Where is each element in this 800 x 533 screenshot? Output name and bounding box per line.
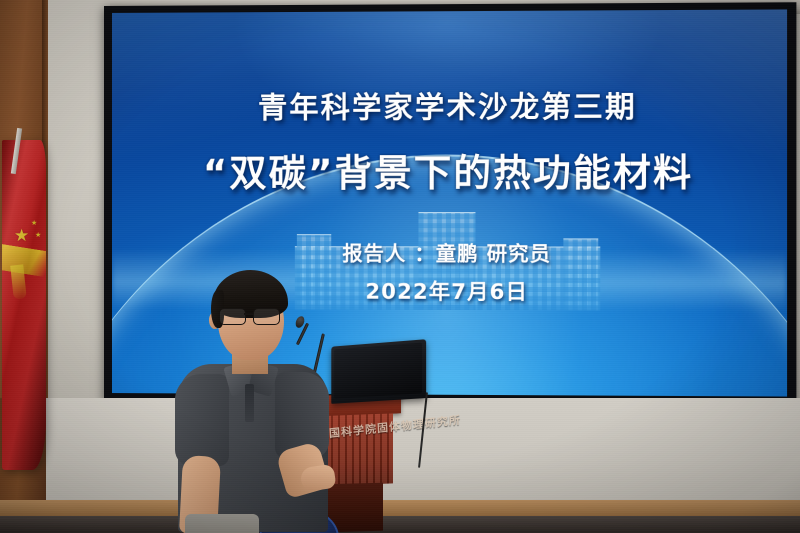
building-windows [418,213,475,310]
presenter-glasses [219,308,285,323]
flag-fold-shading [2,140,46,470]
presenter-left-sleeve [175,374,229,466]
lecture-photo: 青年科学家学术沙龙第三期 “双碳”背景下的热功能材料 报告人 ：童鹏 研究员 2… [0,0,800,533]
glasses-left-lens [219,308,246,325]
left-wall-segment [48,0,110,430]
glasses-bridge [244,313,253,315]
floor [0,516,800,533]
presenter-shirt-placket [245,384,254,422]
building-center-tower [418,212,475,310]
screen-top-glow [232,9,664,142]
building-windows [563,240,598,311]
presenter-right-hand [299,464,336,492]
building-right-tower [563,239,598,311]
glasses-right-lens [253,308,280,325]
presenter-trousers [185,514,259,533]
chinese-national-flag: ★ ★ ★ [2,140,46,470]
presenter [175,268,360,533]
